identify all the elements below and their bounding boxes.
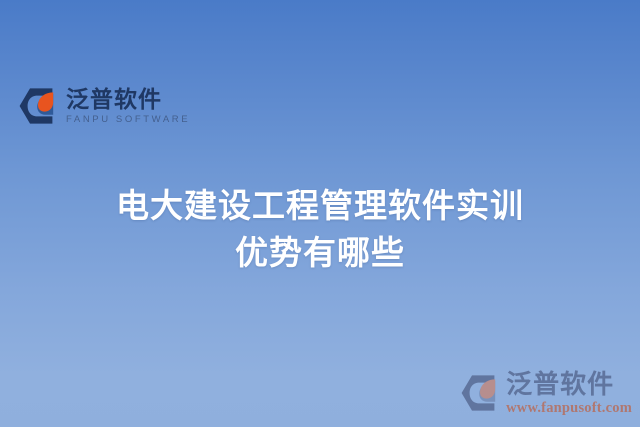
headline: 电大建设工程管理软件实训 优势有哪些 [0, 183, 640, 277]
headline-line-2: 优势有哪些 [40, 230, 600, 277]
watermark-url: www.fanpusoft.com [506, 401, 632, 416]
headline-line-1: 电大建设工程管理软件实训 [40, 183, 600, 230]
watermark-text: 泛普软件 www.fanpusoft.com [506, 371, 632, 415]
promotional-banner: 泛普软件 FANPU SOFTWARE 电大建设工程管理软件实训 优势有哪些 泛… [0, 0, 640, 427]
brand-logo: 泛普软件 FANPU SOFTWARE [18, 86, 190, 126]
brand-wordmark: 泛普软件 FANPU SOFTWARE [66, 87, 190, 124]
watermark-name-cn: 泛普软件 [506, 371, 632, 398]
watermark-fanpu-hexagon-logo-icon [460, 373, 500, 413]
brand-name-cn: 泛普软件 [66, 87, 190, 112]
brand-name-en: FANPU SOFTWARE [66, 115, 190, 125]
watermark: 泛普软件 www.fanpusoft.com [460, 371, 632, 415]
fanpu-hexagon-logo-icon [18, 86, 58, 126]
